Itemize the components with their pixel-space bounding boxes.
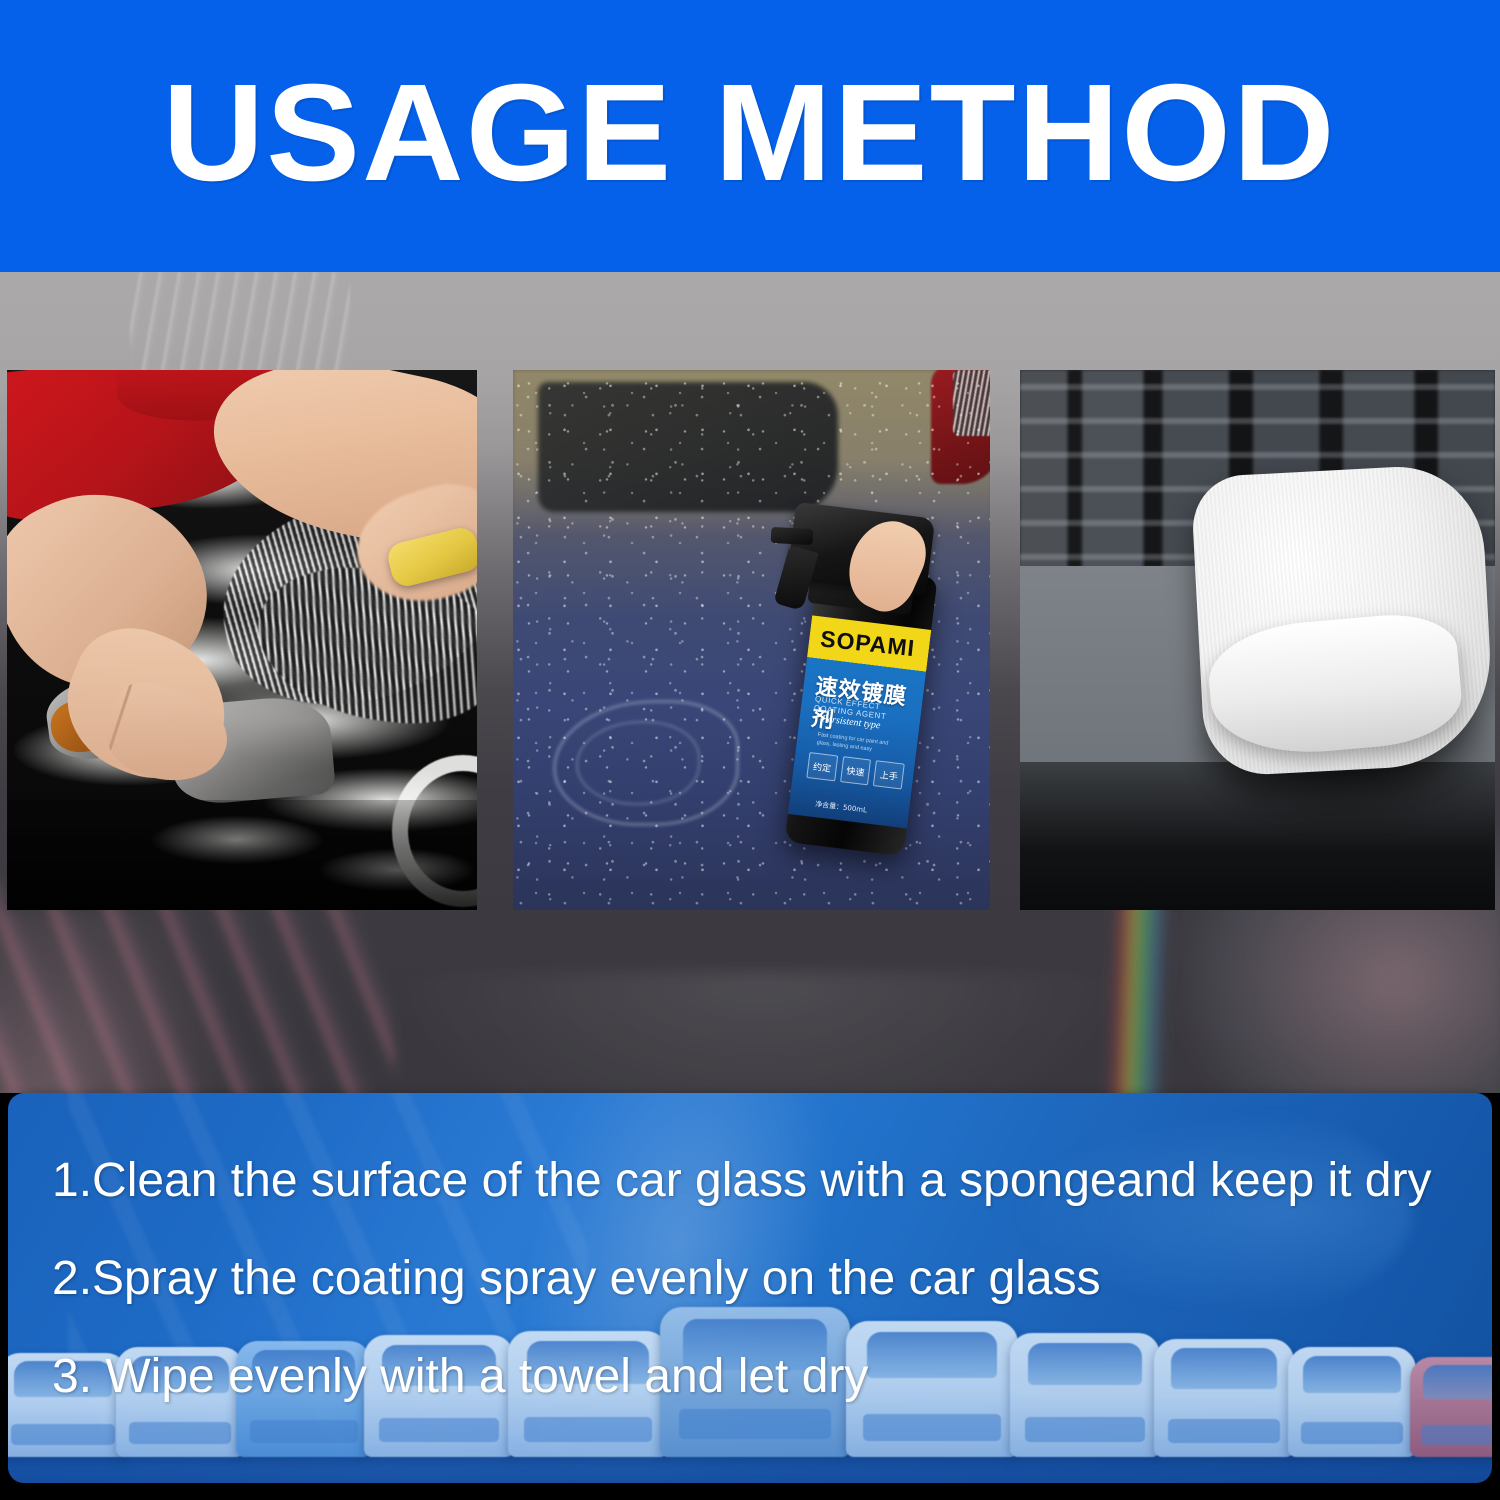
usage-method-infographic: USAGE METHOD bbox=[0, 0, 1500, 1500]
product-badge: 上手 bbox=[873, 760, 905, 789]
steps-stage: SOPAMI 速效镀膜剂 QUICK EFFECT COATING AGENT … bbox=[0, 272, 1500, 1093]
spray-nozzle bbox=[771, 527, 814, 545]
step-3-photo bbox=[1020, 370, 1495, 910]
product-badge: 约定 bbox=[806, 752, 838, 781]
product-volume: 净含量：500mL bbox=[815, 799, 868, 815]
background-glow-left bbox=[0, 912, 260, 1093]
product-badge: 快速 bbox=[840, 756, 872, 785]
product-badges: 约定 快速 上手 bbox=[806, 752, 904, 790]
instruction-line: 3. Wipe evenly with a towel and let dry bbox=[52, 1353, 1462, 1401]
instructions-panel: 1.Clean the surface of the car glass wit… bbox=[8, 1093, 1492, 1483]
lower-shadow bbox=[7, 800, 477, 910]
step-2-photo: SOPAMI 速效镀膜剂 QUICK EFFECT COATING AGENT … bbox=[513, 370, 990, 910]
page-title: USAGE METHOD bbox=[163, 64, 1337, 202]
instruction-list: 1.Clean the surface of the car glass wit… bbox=[52, 1157, 1462, 1451]
step-1-photo bbox=[7, 370, 477, 910]
background-floor-glow bbox=[380, 972, 1140, 1093]
brand-name: SOPAMI bbox=[819, 625, 916, 662]
bottle-label: SOPAMI 速效镀膜剂 QUICK EFFECT COATING AGENT … bbox=[788, 615, 931, 828]
header-banner: USAGE METHOD bbox=[0, 0, 1500, 272]
instruction-line: 2.Spray the coating spray evenly on the … bbox=[52, 1255, 1462, 1303]
instruction-line: 1.Clean the surface of the car glass wit… bbox=[52, 1157, 1462, 1205]
